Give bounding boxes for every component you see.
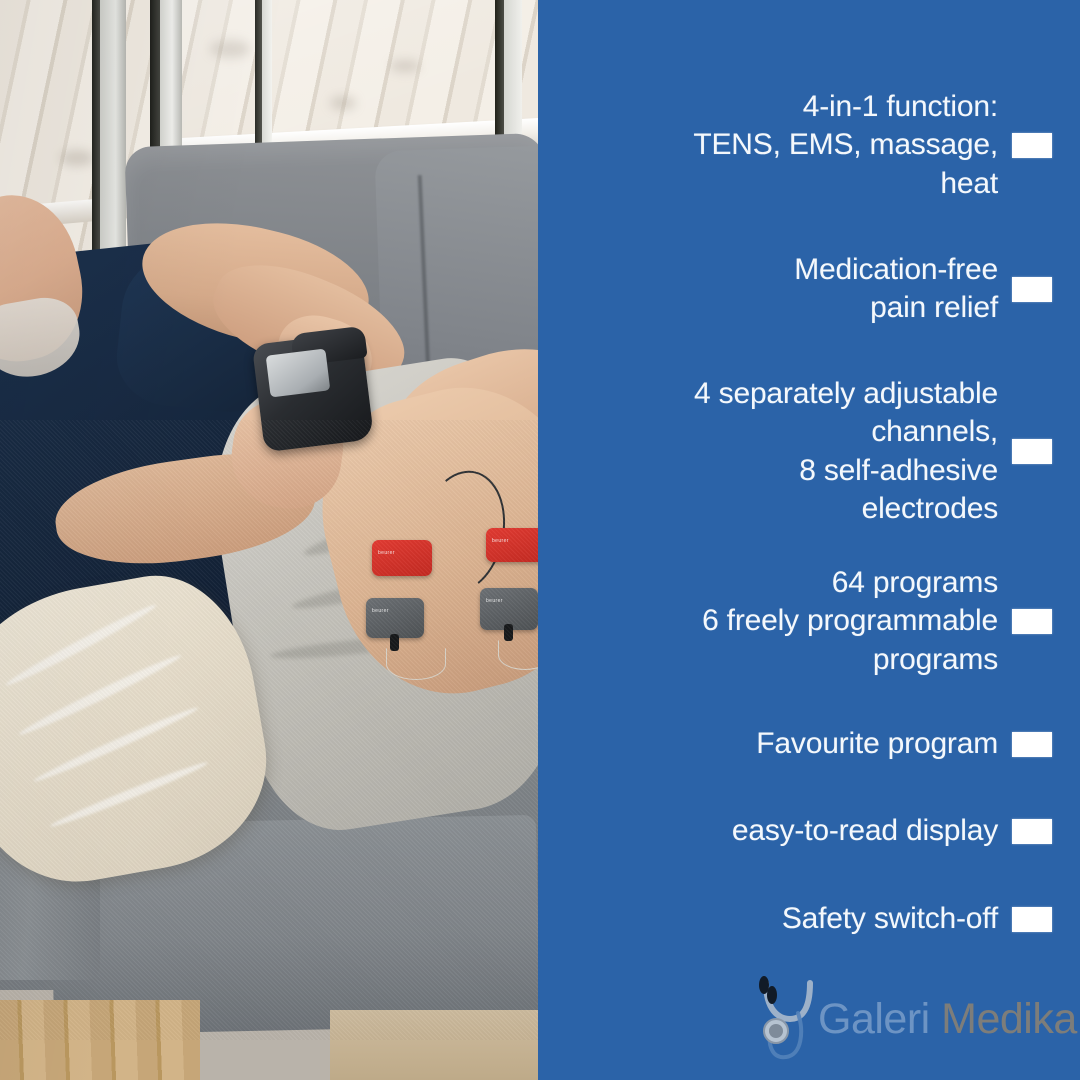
feature-marker-icon bbox=[1012, 609, 1052, 634]
feature-marker-icon bbox=[1012, 133, 1052, 158]
feature-marker-icon bbox=[1012, 907, 1052, 932]
feature-marker-icon bbox=[1012, 439, 1052, 464]
window-frame bbox=[495, 0, 504, 150]
feature-label: easy-to-read display bbox=[732, 812, 1012, 850]
product-feature-graphic: beurer beurer beurer beurer 4-in-1 funct… bbox=[0, 0, 1080, 1080]
feature-marker-icon bbox=[1012, 277, 1052, 302]
feature-row-favourite-program: Favourite program bbox=[538, 725, 1080, 763]
stethoscope-icon bbox=[752, 969, 824, 1069]
tens-ems-device-display bbox=[266, 349, 331, 398]
feature-list-panel: 4-in-1 function: TENS, EMS, massage, hea… bbox=[538, 0, 1080, 1080]
lifestyle-photo: beurer beurer beurer beurer bbox=[0, 0, 538, 1080]
feature-row-medication-free: Medication-free pain relief bbox=[538, 251, 1080, 328]
feature-label: Medication-free pain relief bbox=[794, 251, 1012, 328]
deck-stain bbox=[60, 150, 94, 166]
feature-row-channels-electrodes: 4 separately adjustable channels, 8 self… bbox=[538, 375, 1080, 529]
window-frame bbox=[92, 0, 100, 250]
feature-row-safety-switch-off: Safety switch-off bbox=[538, 900, 1080, 938]
watermark-brand-first: Galeri bbox=[818, 995, 930, 1043]
feature-marker-icon bbox=[1012, 732, 1052, 757]
feature-label: Safety switch-off bbox=[782, 900, 1012, 938]
window-frame bbox=[504, 0, 522, 150]
feature-row-four-in-one: 4-in-1 function: TENS, EMS, massage, hea… bbox=[538, 88, 1080, 203]
feature-label: 64 programs 6 freely programmable progra… bbox=[702, 564, 1012, 679]
watermark-logo: Galeri Medika bbox=[752, 965, 1052, 1073]
feature-label: Favourite program bbox=[756, 725, 1012, 763]
watermark-text: Galeri Medika bbox=[818, 995, 1077, 1044]
feature-label: 4 separately adjustable channels, 8 self… bbox=[694, 375, 1012, 529]
feature-row-display: easy-to-read display bbox=[538, 812, 1080, 850]
feature-row-programs: 64 programs 6 freely programmable progra… bbox=[538, 564, 1080, 679]
sofa-fabric-texture bbox=[0, 420, 538, 1040]
window-frame bbox=[100, 0, 126, 250]
watermark-brand-second: Medika bbox=[930, 995, 1077, 1043]
feature-marker-icon bbox=[1012, 819, 1052, 844]
feature-label: 4-in-1 function: TENS, EMS, massage, hea… bbox=[693, 88, 1012, 203]
